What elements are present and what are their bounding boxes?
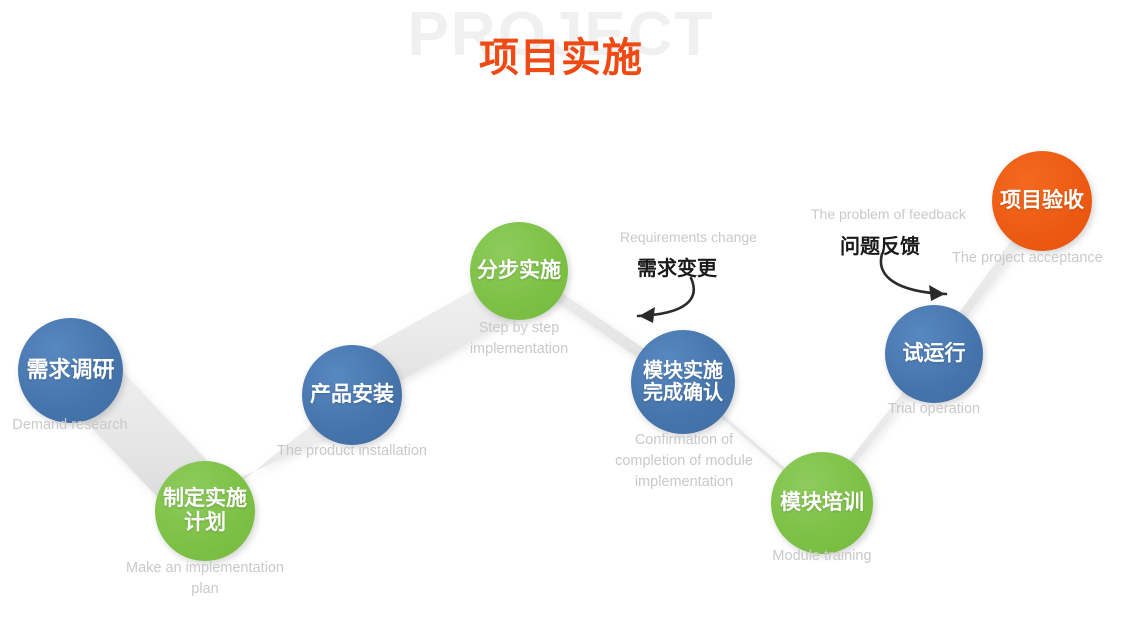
node-step-by-step[interactable]: 分步实施 <box>470 222 568 320</box>
caption-module-training: Module training <box>742 546 902 567</box>
node-project-acceptance-label: 项目验收 <box>994 189 1090 213</box>
node-implementation-plan-label: 制定实施 计划 <box>157 487 253 534</box>
annotation-arrow-down-left-icon <box>608 276 718 336</box>
caption-implementation-plan: Make an implementation plan <box>95 558 315 600</box>
node-trial-operation-label: 试运行 <box>897 342 972 366</box>
node-trial-operation[interactable]: 试运行 <box>885 305 983 403</box>
node-product-installation[interactable]: 产品安装 <box>302 345 402 445</box>
node-project-acceptance[interactable]: 项目验收 <box>992 151 1092 251</box>
caption-module-confirmation: Confirmation of completion of module imp… <box>598 430 770 493</box>
node-module-training-label: 模块培训 <box>774 491 870 515</box>
node-implementation-plan[interactable]: 制定实施 计划 <box>155 461 255 561</box>
node-step-by-step-label: 分步实施 <box>471 259 567 283</box>
node-product-installation-label: 产品安装 <box>304 383 400 407</box>
caption-trial-operation: Trial operation <box>864 399 1004 420</box>
caption-demand-research: Demand research <box>0 415 170 436</box>
caption-product-installation: The product installation <box>252 441 452 462</box>
node-demand-research[interactable]: 需求调研 <box>18 318 123 423</box>
annotation-problem-feedback-english: The problem of feedback <box>811 206 966 222</box>
node-module-training[interactable]: 模块培训 <box>771 452 873 554</box>
node-module-confirmation-label: 模块实施 完成确认 <box>637 360 729 405</box>
annotation-requirements-change-english: Requirements change <box>620 229 757 245</box>
slide-canvas: PROJECT 项目实施 <box>0 0 1122 617</box>
node-demand-research-label: 需求调研 <box>20 358 120 383</box>
node-module-confirmation[interactable]: 模块实施 完成确认 <box>631 330 735 434</box>
caption-step-by-step: Step by step implementation <box>449 318 589 360</box>
caption-project-acceptance: The project acceptance <box>952 248 1122 269</box>
